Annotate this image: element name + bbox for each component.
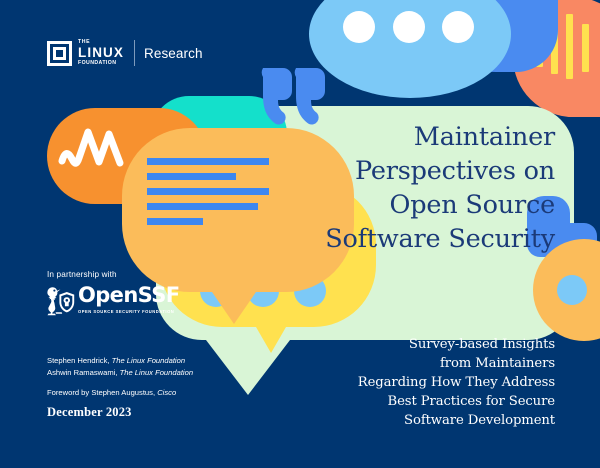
subtitle-line-1: Survey-based Insights xyxy=(225,336,555,355)
lf-linux-text: LINUX xyxy=(78,46,124,60)
title-line-4: Software Security xyxy=(225,222,555,256)
author-row: Ashwin Ramaswami, The Linux Foundation xyxy=(47,367,193,379)
openssf-logo: OpenSSF OPEN SOURCE SECURITY FOUNDATION xyxy=(43,285,180,318)
title-line-1: Maintainer xyxy=(225,120,555,154)
subtitle-line-2: from Maintainers xyxy=(225,355,555,374)
text-line-2 xyxy=(147,173,236,180)
partnership-label: In partnership with xyxy=(47,270,117,279)
foreword-name: Foreword by Stephen Augustus, xyxy=(47,388,155,397)
foreword-org: Cisco xyxy=(157,388,176,397)
linux-foundation-wordmark: THE LINUX FOUNDATION xyxy=(78,40,124,65)
openssf-bird-shield-icon xyxy=(43,285,75,318)
cover-subtitle: Survey-based Insights from Maintainers R… xyxy=(225,336,555,430)
logo-divider xyxy=(134,40,135,66)
author-org: The Linux Foundation xyxy=(120,368,193,377)
author-org: The Linux Foundation xyxy=(112,356,185,365)
title-line-2: Perspectives on xyxy=(225,154,555,188)
openssf-name: OpenSSF xyxy=(78,285,180,306)
report-cover: THE LINUX FOUNDATION Research Maintainer… xyxy=(0,0,600,468)
author-name: Ashwin Ramaswami, xyxy=(47,368,117,377)
linux-foundation-logo: THE LINUX FOUNDATION Research xyxy=(47,38,203,68)
subtitle-line-4: Best Practices for Secure xyxy=(225,393,555,412)
openssf-wordmark: OpenSSF OPEN SOURCE SECURITY FOUNDATION xyxy=(78,285,180,314)
text-line-5 xyxy=(147,218,203,225)
openssf-tagline: OPEN SOURCE SECURITY FOUNDATION xyxy=(78,309,180,314)
publication-date: December 2023 xyxy=(47,405,132,420)
cover-title: Maintainer Perspectives on Open Source S… xyxy=(225,120,555,256)
author-name: Stephen Hendrick, xyxy=(47,356,109,365)
lf-foundation-text: FOUNDATION xyxy=(78,61,124,66)
lf-research-text: Research xyxy=(144,46,203,61)
author-row: Stephen Hendrick, The Linux Foundation xyxy=(47,355,193,367)
linux-foundation-mark-icon xyxy=(47,41,72,66)
subtitle-line-5: Software Development xyxy=(225,412,555,431)
subtitle-line-3: Regarding How They Address xyxy=(225,374,555,393)
author-list: Stephen Hendrick, The Linux Foundation A… xyxy=(47,355,193,378)
foreword-credit: Foreword by Stephen Augustus, Cisco xyxy=(47,388,176,397)
title-line-3: Open Source xyxy=(225,188,555,222)
